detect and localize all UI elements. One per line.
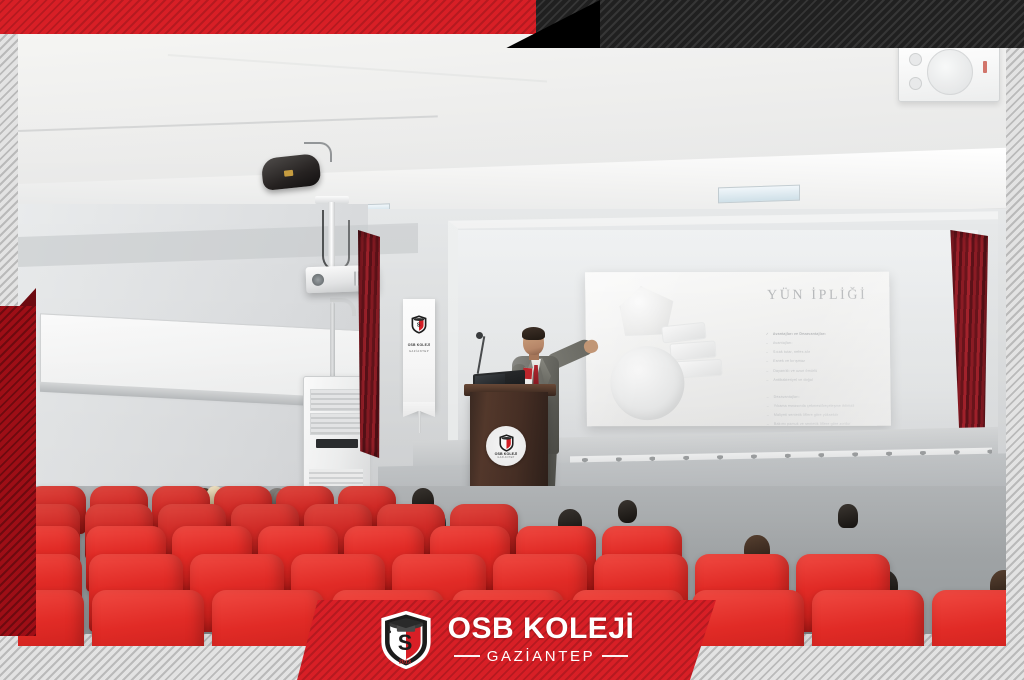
podium-logo-subtitle: GAZİANTEP xyxy=(497,456,514,459)
auditorium-seat xyxy=(932,590,1006,646)
ac-display-panel xyxy=(316,439,358,448)
frame-right-gray-bar xyxy=(1006,48,1024,638)
frame-left-gray-bar xyxy=(0,26,18,338)
slide-bullet-spacer xyxy=(766,385,891,393)
projection-screen: YÜN İPLİĞİ Avantajları ve Dezavantajları… xyxy=(585,272,891,427)
slide-bullet-item: Sıcak tutar, nefes alır xyxy=(766,348,891,357)
audience-head-distant xyxy=(618,500,637,523)
projector-lens-icon xyxy=(312,274,324,286)
shield-year-label: 2013 xyxy=(398,660,410,666)
ac-knob xyxy=(909,53,922,66)
slide-bullet-head: Avantajları ve Dezavantajları xyxy=(766,330,891,339)
banner-title: OSB KOLEJİ xyxy=(448,614,635,644)
slide-bullet-item: Dayanıklı ve uzun ömürlü xyxy=(766,366,891,375)
slide-bullet-item: Esnek ve kırışmaz xyxy=(766,357,891,366)
slide-wool-cloth-circle-image xyxy=(610,346,685,420)
banner-subtitle: GAZİANTEP xyxy=(487,648,595,665)
podium-logo: OSB KOLEJİ GAZİANTEP xyxy=(486,426,526,466)
projector-cable xyxy=(336,220,350,270)
slide-bullet-item: Dezavantajları: xyxy=(767,393,891,402)
slide-yarn-cone-image xyxy=(661,322,707,344)
rollup-banner-pole xyxy=(418,411,421,433)
rollup-banner-subtitle: GAZİANTEP xyxy=(403,350,435,353)
banner-subtitle-row: GAZİANTEP xyxy=(454,648,628,665)
frame-top-dark-bar xyxy=(536,0,1024,48)
slide-bullet-item: Bakımı pamuk ve sentetik liflere göre zo… xyxy=(767,420,891,426)
auditorium-seat xyxy=(92,590,204,646)
banner-rule-right xyxy=(602,655,628,657)
auditorium-seat xyxy=(212,590,324,646)
banner-rule-left xyxy=(454,655,480,657)
ac-vent xyxy=(310,413,364,435)
rollup-banner-title: OSB KOLEJİ xyxy=(403,343,435,347)
osb-shield-icon xyxy=(498,434,515,452)
podium-microphone-head xyxy=(476,332,483,339)
speaker-badge xyxy=(284,170,294,177)
slide-bullet-item: Antibakteriyel ve doğal xyxy=(766,375,891,384)
slide-yarn-cone-image xyxy=(669,340,716,360)
screenshot-root: YÜN İPLİĞİ Avantajları ve Dezavantajları… xyxy=(0,0,1024,680)
frame-top-red-bar xyxy=(0,0,540,34)
ceiling-speaker xyxy=(260,153,321,191)
wall-air-conditioner xyxy=(898,42,1000,102)
osb-koleji-shield-logo: S 2013 xyxy=(378,609,434,671)
slide-title: YÜN İPLİĞİ xyxy=(767,288,867,304)
banner-text-group: OSB KOLEJİ GAZİANTEP xyxy=(448,614,635,665)
slide-bullet-item: Avantajları: xyxy=(766,339,891,348)
stage-curtain-left xyxy=(358,230,380,458)
ceiling-light-panel xyxy=(718,185,800,204)
frame-left-red-bar xyxy=(0,306,36,636)
osb-koleji-banner: S 2013 OSB KOLEJİ GAZİANTEP xyxy=(296,600,716,680)
ac-knob xyxy=(909,77,922,90)
svg-text:S: S xyxy=(397,630,412,655)
osb-shield-icon: S xyxy=(411,315,428,334)
ac-fan-icon xyxy=(927,49,973,95)
svg-text:S: S xyxy=(417,323,421,329)
auditorium-photograph: YÜN İPLİĞİ Avantajları ve Dezavantajları… xyxy=(18,34,1006,646)
presenter-hair xyxy=(522,327,545,340)
slide-bullet-item: Yıkama esnasında çekmesi/keçeleşme ihtim… xyxy=(767,402,891,411)
auditorium-seat xyxy=(812,590,924,646)
audience-head-distant xyxy=(838,504,858,528)
rollup-banner: S OSB KOLEJİ GAZİANTEP xyxy=(403,299,435,411)
ac-led-icon xyxy=(983,61,987,73)
slide-bullet-list: Avantajları ve DezavantajlarıAvantajları… xyxy=(726,330,891,427)
ac-pipe xyxy=(330,302,335,380)
ac-vent xyxy=(310,389,364,411)
slide-bullet-item: Maliyeti sentetik liflere göre yüksektir xyxy=(767,411,891,420)
